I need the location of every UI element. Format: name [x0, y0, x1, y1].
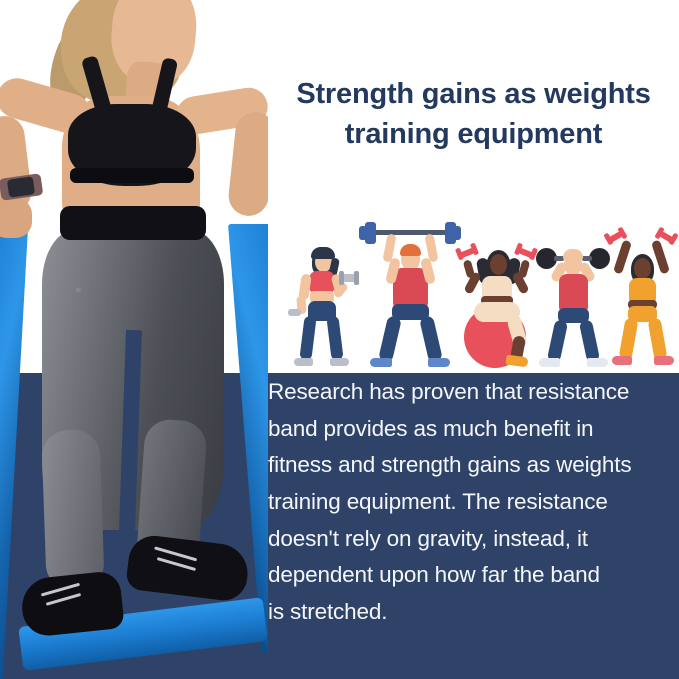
figure-woman-dumbbell-curl [284, 240, 358, 372]
figure-right-shoe [587, 358, 608, 367]
body-line-1: Research has proven that resistance [268, 374, 672, 411]
fitness-illustration-strip [268, 222, 679, 372]
figure-man-overhead-barbell-press [362, 222, 458, 372]
figure-woman-on-exercise-ball [454, 232, 542, 372]
figure-left-leg [547, 319, 568, 363]
photo-left-sneaker [19, 570, 125, 638]
headline-line-2: training equipment [268, 114, 679, 154]
dumbbell-icon [354, 271, 359, 285]
figure-sports-top [309, 271, 335, 293]
photo-bra-underband [70, 168, 194, 183]
figure-left-arm [613, 239, 632, 274]
figure-woman-arms-raised [606, 230, 678, 372]
sneaker-lace [46, 593, 81, 606]
body-copy: Research has proven that resistance band… [268, 374, 672, 631]
figure-left-leg [299, 315, 316, 360]
body-line-6: dependent upon how far the band [268, 557, 672, 594]
figure-left-shoe [370, 358, 392, 367]
headline-line-1: Strength gains as weights [268, 74, 679, 114]
photo-right-sneaker [125, 533, 251, 603]
figure-left-shoe [612, 356, 632, 365]
body-line-4: training equipment. The resistance [268, 484, 672, 521]
product-photo [0, 0, 268, 679]
figure-head [634, 258, 651, 279]
photo-waistband [60, 206, 206, 240]
dumbbell-icon [668, 233, 678, 246]
body-line-5: doesn't rely on gravity, instead, it [268, 521, 672, 558]
figure-left-shoe [294, 358, 313, 366]
barbell-bar [371, 230, 451, 235]
figure-left-leg [618, 317, 638, 361]
figure-left-forearm [463, 259, 476, 279]
dumbbell-icon [339, 271, 344, 285]
figure-right-leg [326, 315, 343, 360]
barbell-plate-left-outer [359, 226, 367, 240]
figure-man-shoulder-press [534, 232, 612, 372]
figure-right-shoe [330, 358, 349, 366]
figure-right-leg [419, 315, 443, 363]
photo-left-hand [0, 198, 32, 238]
figure-left-leg [378, 315, 402, 363]
smart-watch-icon [7, 176, 35, 197]
figure-hair [400, 244, 421, 256]
photo-left-calf [41, 429, 105, 591]
dumbbell-handle [582, 256, 592, 261]
figure-shoe [505, 355, 528, 368]
figure-hair [563, 249, 583, 260]
figure-right-shoe [654, 356, 674, 365]
figure-tank-top [559, 274, 588, 312]
body-line-7: is stretched. [268, 594, 672, 631]
dumbbell-icon [288, 309, 301, 316]
headline: Strength gains as weights training equip… [268, 74, 679, 154]
body-line-3: fitness and strength gains as weights [268, 447, 672, 484]
figure-right-shoe [428, 358, 450, 367]
body-line-2: band provides as much benefit in [268, 411, 672, 448]
figure-right-leg [647, 317, 667, 361]
promo-banner: Strength gains as weights training equip… [0, 0, 679, 679]
figure-hair-cap [311, 247, 335, 259]
figure-right-leg [579, 319, 600, 363]
figure-left-shoe [539, 358, 560, 367]
figure-head [490, 254, 507, 275]
